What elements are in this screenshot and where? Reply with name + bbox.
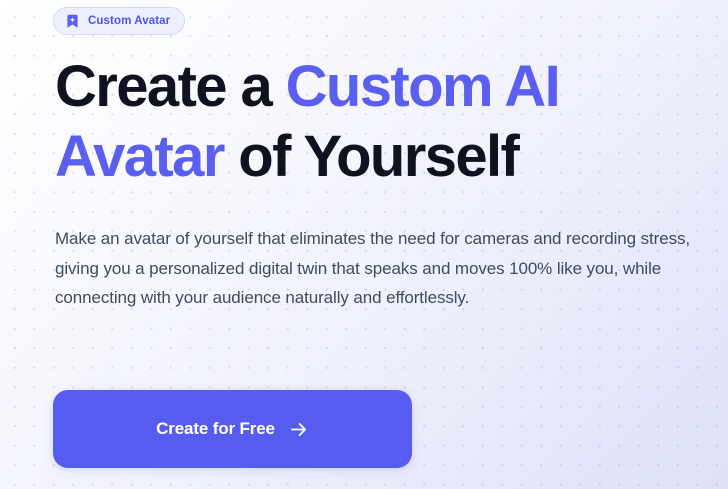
headline-text-create-a: Create a — [55, 54, 286, 119]
create-for-free-label: Create for Free — [156, 419, 275, 439]
create-for-free-button[interactable]: Create for Free — [53, 390, 412, 468]
custom-avatar-badge[interactable]: Custom Avatar — [53, 7, 185, 35]
hero-description: Make an avatar of yourself that eliminat… — [55, 224, 701, 313]
hero-content: Custom Avatar Create a Custom AI Avatar … — [53, 0, 713, 489]
page-title: Create a Custom AI Avatar of Yourself — [55, 52, 715, 192]
bookmark-star-icon — [64, 13, 81, 30]
headline-line-2: Avatar of Yourself — [55, 122, 715, 192]
badge-label: Custom Avatar — [88, 15, 170, 27]
headline-accent-avatar: Avatar — [55, 124, 224, 189]
arrow-right-icon — [288, 419, 309, 440]
headline-text-of-yourself: of Yourself — [224, 124, 518, 189]
headline-line-1: Create a Custom AI — [55, 52, 715, 122]
hero-section: Custom Avatar Create a Custom AI Avatar … — [0, 0, 728, 489]
headline-accent-custom-ai: Custom AI — [286, 54, 559, 119]
